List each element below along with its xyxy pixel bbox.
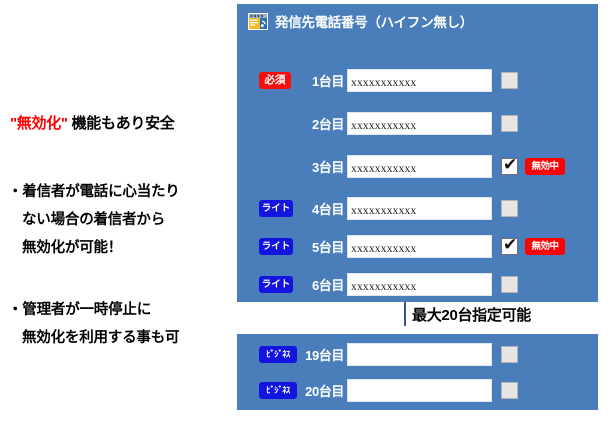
phone-number-form-panel: 発信先電話番号（ハイフン無し） 無効フラグ 必須 1台目 xxxxxxxxxxx… xyxy=(237,4,598,302)
phone-number-input[interactable]: xxxxxxxxxxx xyxy=(347,273,492,296)
phone-number-input[interactable]: xxxxxxxxxxx xyxy=(347,235,492,258)
row-label: 5台目 xyxy=(299,237,344,256)
required-badge: 必須 xyxy=(259,72,291,89)
max-devices-note-text: 最大20台指定可能 xyxy=(412,304,531,325)
table-row: 必須 1台目 xxxxxxxxxxx xyxy=(237,70,598,92)
status-badge: 無効中 xyxy=(525,238,565,255)
phone-number-input[interactable] xyxy=(347,379,492,402)
disable-flag-checkbox[interactable] xyxy=(501,346,518,363)
disable-flag-checkbox[interactable] xyxy=(501,382,518,399)
headline-rest-text: 機能もあり安全 xyxy=(68,115,175,132)
checkmark-icon: ✔ xyxy=(503,234,517,256)
bullet-one-line-1: ・着信者が電話に心当たり xyxy=(8,178,180,206)
table-row: ライト 6台目 xxxxxxxxxxx xyxy=(237,274,598,296)
phone-number-input[interactable]: xxxxxxxxxxx xyxy=(347,155,492,178)
disable-flag-checkbox[interactable] xyxy=(501,72,518,89)
status-badge: 無効中 xyxy=(525,158,565,175)
table-row: ﾋﾞｼﾞﾈｽ 20台目 xyxy=(237,380,598,402)
disable-flag-checkbox[interactable] xyxy=(501,276,518,293)
bullet-one-line-3: 無効化が可能！ xyxy=(8,234,180,262)
table-row: 3台目 xxxxxxxxxxx ✔ 無効中 xyxy=(237,156,598,178)
row-label: 1台目 xyxy=(299,71,344,90)
bullet-two-line-1: ・管理者が一時停止に xyxy=(8,296,179,324)
phone-number-input[interactable]: xxxxxxxxxxx xyxy=(347,69,492,92)
row-label: 2台目 xyxy=(299,114,344,133)
explanatory-copy: "無効化" 機能もあり安全 ・着信者が電話に心当たり ない場合の着信者から 無効… xyxy=(0,0,236,422)
annotation-vertical-bar xyxy=(404,302,406,326)
phone-number-input[interactable]: xxxxxxxxxxx xyxy=(347,112,492,135)
row-label: 3台目 xyxy=(299,157,344,176)
bullet-block-one: ・着信者が電話に心当たり ない場合の着信者から 無効化が可能！ xyxy=(8,178,180,262)
phone-number-form-panel-bottom: ﾋﾞｼﾞﾈｽ 19台目 ﾋﾞｼﾞﾈｽ 20台目 xyxy=(237,334,598,410)
plan-badge-lite: ライト xyxy=(259,238,293,255)
disable-flag-checkbox[interactable] xyxy=(501,200,518,217)
panel-title: 発信先電話番号（ハイフン無し） xyxy=(275,11,473,31)
row-label: 4台目 xyxy=(299,199,344,218)
table-row: 2台目 xxxxxxxxxxx xyxy=(237,113,598,135)
bullet-one-line-2: ない場合の着信者から xyxy=(8,206,180,234)
table-row: ﾋﾞｼﾞﾈｽ 19台目 xyxy=(237,344,598,366)
disable-flag-checkbox[interactable]: ✔ xyxy=(501,158,518,175)
plan-badge-lite: ライト xyxy=(259,276,293,293)
phone-number-input[interactable]: xxxxxxxxxxx xyxy=(347,197,492,220)
headline: "無効化" 機能もあり安全 xyxy=(10,112,175,133)
row-label: 19台目 xyxy=(291,345,344,364)
table-row: ライト 5台目 xxxxxxxxxxx ✔ 無効中 xyxy=(237,236,598,258)
row-label: 6台目 xyxy=(299,275,344,294)
max-devices-annotation: 最大20台指定可能 xyxy=(404,302,531,326)
bullet-two-line-2: 無効化を利用する事も可 xyxy=(8,324,179,352)
table-row: ライト 4台目 xxxxxxxxxxx xyxy=(237,198,598,220)
checkmark-icon: ✔ xyxy=(503,154,517,176)
row-label: 20台目 xyxy=(291,381,344,400)
disable-flag-checkbox[interactable]: ✔ xyxy=(501,238,518,255)
plan-badge-lite: ライト xyxy=(259,200,293,217)
bullet-block-two: ・管理者が一時停止に 無効化を利用する事も可 xyxy=(8,296,179,352)
headline-accent-text: "無効化" xyxy=(10,115,68,132)
panel-header: 発信先電話番号（ハイフン無し） xyxy=(248,11,473,31)
phone-number-input[interactable] xyxy=(347,343,492,366)
disable-flag-checkbox[interactable] xyxy=(501,115,518,132)
phone-book-icon xyxy=(248,13,268,30)
